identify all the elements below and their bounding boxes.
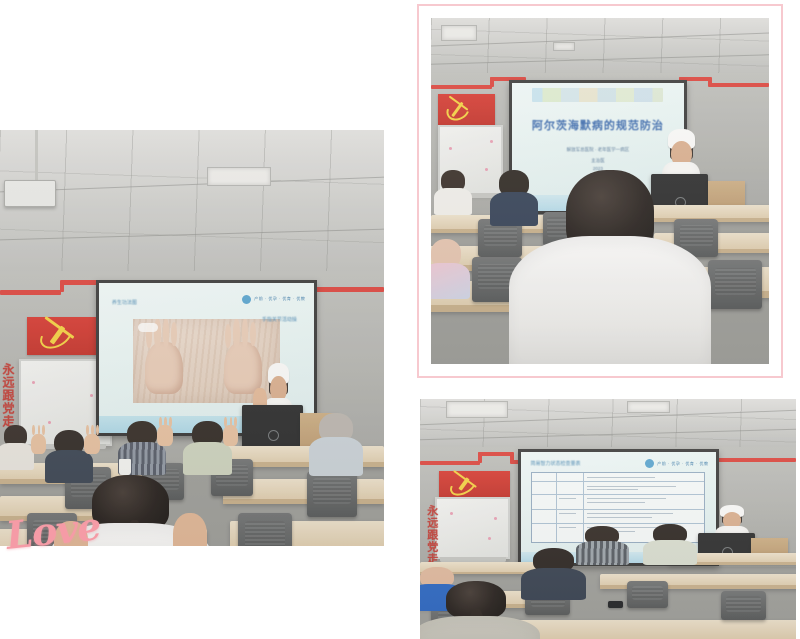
slide-logo: 产前 · 优孕 · 优育 · 优教 (242, 295, 305, 304)
love-watermark: Love (4, 503, 103, 558)
attendee-body (45, 450, 94, 483)
raised-hand (31, 434, 46, 455)
slide-subtitle-line-2: 主治医 (512, 158, 684, 165)
hammer-sickle-emblem (446, 99, 472, 118)
foreground-woman (92, 475, 169, 546)
chair (721, 591, 766, 620)
slide-logo-bubble-icon (645, 459, 654, 468)
attendee (192, 421, 223, 471)
photo-top-right[interactable]: 阿尔茨海默病的规范防治 解放军总医院 · 老年医学一病区 主治医 2023 (431, 18, 769, 364)
ceiling-vent (446, 401, 508, 417)
slide-logo-text: 产前 · 优孕 · 优育 · 优教 (657, 461, 708, 467)
attendee-body (434, 188, 471, 215)
slide-logo-bubble-icon (242, 295, 251, 304)
attendee (653, 524, 687, 562)
left-hand (145, 342, 183, 394)
party-flag (438, 94, 495, 125)
slide-logo: 产前 · 优孕 · 优育 · 优教 (645, 459, 708, 468)
attendee-body (431, 263, 470, 300)
foreground-white-coat (509, 236, 711, 364)
right-hand (224, 342, 262, 394)
slide-caption-left: 简易智力状态检查量表 (531, 460, 581, 467)
photo-top-right-frame: 阿尔茨海默病的规范防治 解放军总医院 · 老年医学一病区 主治医 2023 (417, 4, 783, 378)
attendee-body (490, 192, 538, 226)
ceiling-vent (627, 401, 670, 413)
attendee (127, 421, 158, 471)
chair (627, 581, 668, 607)
chair (238, 513, 292, 546)
photo-left[interactable]: 永远跟党走 产前 · 优孕 · 优育 · 优教 养生功法图 (0, 130, 384, 546)
chair (708, 260, 762, 308)
projector (4, 180, 56, 207)
slide-title: 阿尔茨海默病的规范防治 (512, 117, 684, 133)
attendee-body (576, 541, 629, 565)
attendee (441, 170, 465, 212)
ceiling-vent (207, 167, 270, 186)
attendee-elderly (319, 413, 354, 471)
hammer-sickle-emblem (39, 323, 80, 346)
ceiling-grid (431, 18, 769, 80)
photo-collage: 永远跟党走 产前 · 优孕 · 优育 · 优教 养生功法图 (0, 0, 800, 639)
attendee (431, 239, 461, 294)
raised-hand (84, 434, 99, 455)
ceiling-grid (0, 130, 384, 288)
attendee-body (643, 540, 696, 565)
party-flag (439, 471, 510, 497)
chair (307, 471, 357, 517)
attendee-body (183, 442, 232, 475)
attendee (585, 526, 619, 562)
ceiling-vent (553, 42, 575, 51)
ceiling (0, 130, 384, 288)
foreground-right-hand (173, 513, 208, 546)
slide-tag (138, 323, 158, 332)
projector-arm (35, 130, 38, 184)
ceiling-vent (441, 25, 477, 41)
attendee-body (521, 568, 586, 600)
slide-caption-left: 养生功法图 (112, 299, 137, 306)
slide-logo-text: 产前 · 优孕 · 优育 · 优教 (254, 296, 305, 302)
attendee-body (309, 437, 364, 475)
whiteboard (435, 497, 510, 559)
laptop (242, 405, 303, 451)
attendee (533, 548, 574, 596)
slide-subtitle-line-1: 解放军总医院 · 老年医学一病区 (512, 147, 684, 154)
raised-hand (223, 425, 238, 446)
desk-row-front (495, 620, 796, 639)
attendee (54, 430, 85, 480)
slide-photo-strip (532, 88, 663, 102)
photo-bottom-right[interactable]: 永远跟党走 产前 · 优孕 · 优育 · 优教 简易智力状态检查量表 (420, 399, 796, 639)
raised-hand (157, 425, 172, 446)
attendee (499, 170, 529, 222)
ceiling (431, 18, 769, 80)
attendee-body (0, 443, 34, 470)
paper-cup (119, 459, 131, 476)
attendee (4, 425, 27, 467)
foreground-woman (446, 581, 506, 639)
phone (608, 601, 623, 608)
slide-caption-right: 手指关节活动操 (262, 316, 297, 323)
foreground-woman (566, 170, 654, 364)
hammer-sickle-emblem (449, 475, 482, 491)
